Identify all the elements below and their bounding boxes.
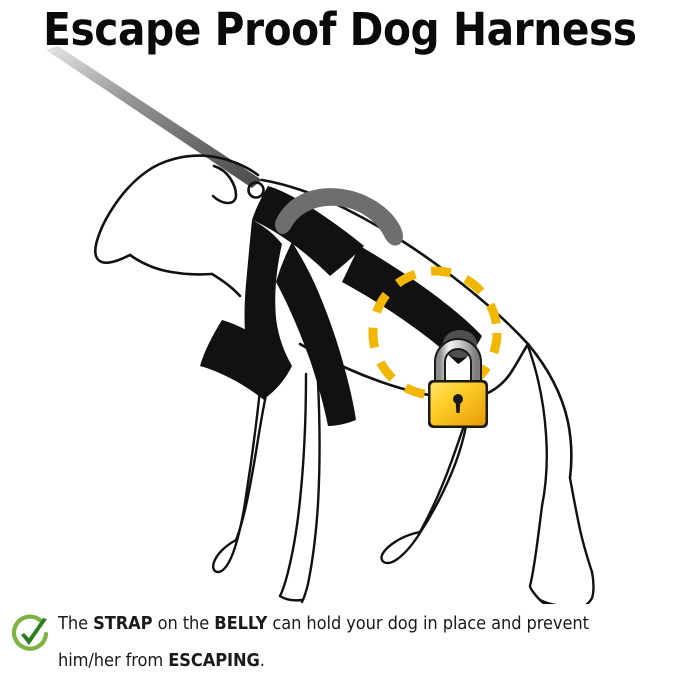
caption-line-2: him/her from ESCAPING. — [58, 643, 633, 680]
caption-line1-part3: can hold your dog in place and prevent — [267, 614, 589, 634]
caption-line2-part2: . — [260, 651, 265, 671]
caption-text: The STRAP on the BELLY can hold your dog… — [58, 606, 633, 680]
caption-line2-bold-escaping: ESCAPING — [168, 651, 260, 671]
caption-block: The STRAP on the BELLY can hold your dog… — [0, 606, 679, 691]
caption-line2-part1: him/her from — [58, 651, 168, 671]
caption-line1-part2: on the — [152, 614, 214, 634]
caption-line-1: The STRAP on the BELLY can hold your dog… — [58, 606, 633, 643]
caption-line1-bold-belly: BELLY — [214, 614, 267, 634]
product-feature-image: Escape Proof Dog Harness — [0, 0, 679, 691]
caption-line1-bold-strap: STRAP — [93, 614, 152, 634]
dog-harness-illustration — [0, 44, 679, 604]
caption-line1-part1: The — [58, 614, 93, 634]
green-check-icon — [10, 614, 52, 656]
